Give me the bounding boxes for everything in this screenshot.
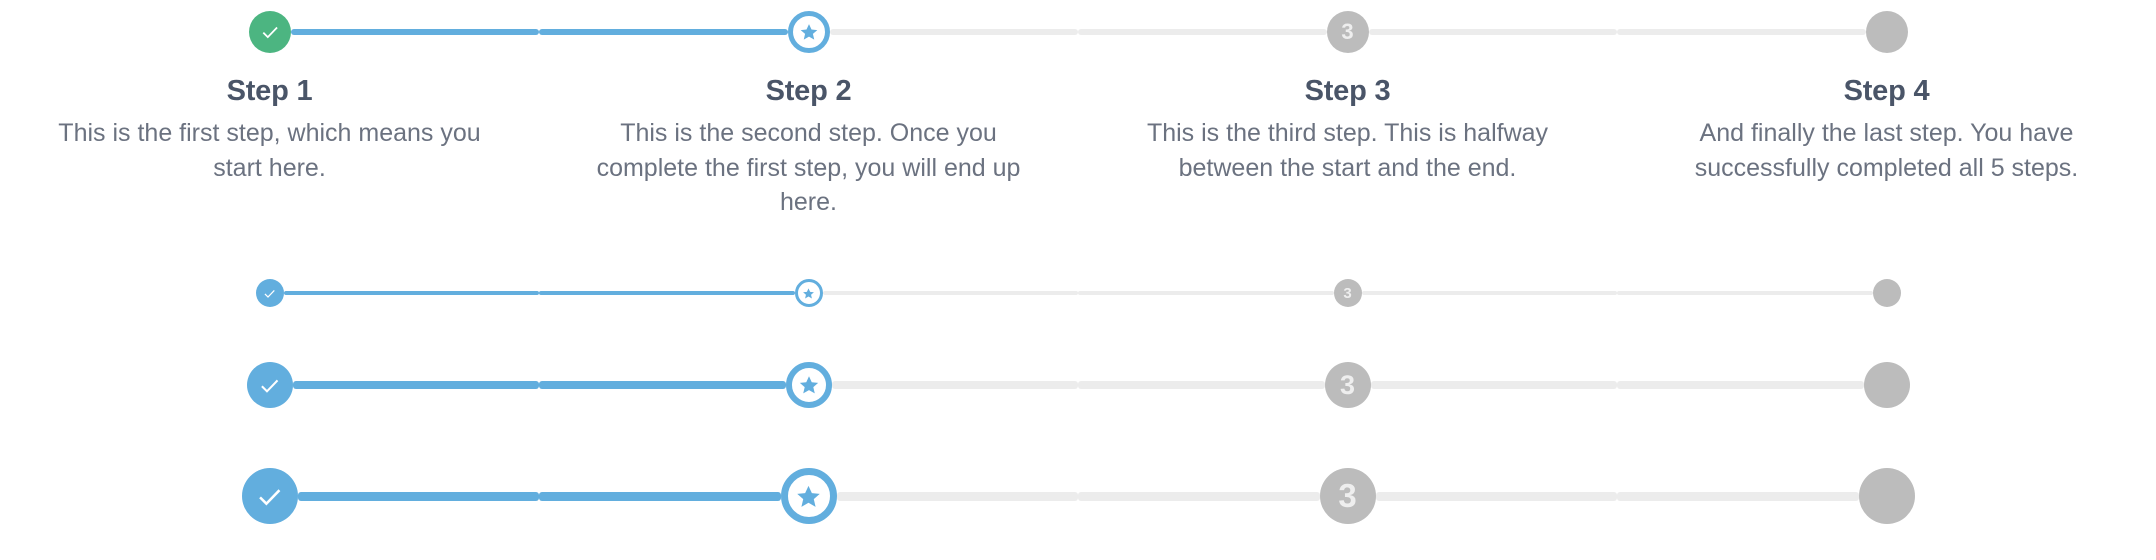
star-icon [795, 483, 822, 510]
step-marker-4-dot[interactable] [1859, 468, 1915, 524]
step-track-4 [1617, 11, 2156, 53]
step-description-1: This is the first step, which means you … [12, 116, 527, 185]
check-icon [254, 481, 285, 512]
connector-line-left-4 [1617, 381, 1864, 389]
star-icon [798, 374, 820, 396]
step-description-3: This is the third step. This is halfway … [1090, 116, 1605, 185]
star-icon [799, 22, 819, 42]
step-item-2[interactable] [539, 362, 1078, 408]
stepper-medium: 3 [0, 362, 2156, 408]
step-track-1 [0, 279, 539, 307]
step-marker-1-check[interactable] [256, 279, 284, 307]
step-marker-3-number[interactable]: 3 [1334, 279, 1362, 307]
step-description-2: This is the second step. Once you comple… [551, 116, 1066, 220]
connector-line-left-4 [1617, 492, 1859, 501]
step-track-3: 3 [1078, 11, 1617, 53]
step-track-3: 3 [1078, 362, 1617, 408]
step-title-4: Step 4 [1629, 75, 2144, 108]
step-track-1 [0, 468, 539, 524]
step-item-2[interactable] [539, 279, 1078, 307]
connector-line-right-1 [291, 29, 540, 35]
step-item-4[interactable]: Step 4 And finally the last step. You ha… [1617, 11, 2156, 185]
connector-line-left-2 [539, 291, 795, 295]
connector-line-left-4 [1617, 291, 1873, 295]
step-marker-2-star[interactable] [786, 362, 832, 408]
step-track-3: 3 [1078, 468, 1617, 524]
connector-line-right-3 [1376, 492, 1618, 501]
connector-line-right-2 [823, 291, 1079, 295]
step-item-1[interactable] [0, 362, 539, 408]
step-marker-1-check[interactable] [249, 11, 291, 53]
step-labels-4: Step 4 And finally the last step. You ha… [1617, 53, 2156, 185]
step-marker-4-dot[interactable] [1866, 11, 1908, 53]
step-marker-2-star[interactable] [781, 468, 837, 524]
step-track-4 [1617, 468, 2156, 524]
step-track-2 [539, 468, 1078, 524]
step-marker-2-star[interactable] [788, 11, 830, 53]
step-title-2: Step 2 [551, 75, 1066, 108]
step-labels-2: Step 2 This is the second step. Once you… [539, 53, 1078, 220]
connector-line-right-3 [1362, 291, 1618, 295]
connector-line-right-1 [298, 492, 540, 501]
step-item-3[interactable]: 3 [1078, 279, 1617, 307]
step-track-1 [0, 362, 539, 408]
step-marker-1-check[interactable] [242, 468, 298, 524]
step-labels-3: Step 3 This is the third step. This is h… [1078, 53, 1617, 185]
step-title-3: Step 3 [1090, 75, 1605, 108]
connector-line-left-3 [1078, 381, 1325, 389]
step-title-1: Step 1 [12, 75, 527, 108]
stepper-showcase-page: Step 1 This is the first step, which mea… [0, 0, 2156, 560]
step-labels-1: Step 1 This is the first step, which mea… [0, 53, 539, 185]
step-track-2 [539, 279, 1078, 307]
star-icon [802, 287, 815, 300]
connector-line-left-1 [0, 381, 247, 389]
step-item-1[interactable]: Step 1 This is the first step, which mea… [0, 11, 539, 185]
connector-line-left-2 [539, 381, 786, 389]
connector-line-right-4 [1910, 381, 2156, 389]
step-item-2[interactable] [539, 468, 1078, 524]
step-marker-3-number[interactable]: 3 [1327, 11, 1369, 53]
step-item-3[interactable]: 3 [1078, 362, 1617, 408]
stepper-xlarge: 3 [0, 468, 2156, 524]
step-item-4[interactable] [1617, 279, 2156, 307]
step-marker-3-number[interactable]: 3 [1320, 468, 1376, 524]
step-item-1[interactable] [0, 468, 539, 524]
stepper-large-with-labels: Step 1 This is the first step, which mea… [0, 11, 2156, 220]
step-item-3[interactable]: 3 Step 3 This is the third step. This is… [1078, 11, 1617, 185]
step-track-1 [0, 11, 539, 53]
connector-line-left-2 [539, 492, 781, 501]
connector-line-left-3 [1078, 29, 1327, 35]
step-track-2 [539, 11, 1078, 53]
step-track-4 [1617, 362, 2156, 408]
connector-line-right-1 [293, 381, 540, 389]
step-marker-4-dot[interactable] [1864, 362, 1910, 408]
step-item-4[interactable] [1617, 468, 2156, 524]
connector-line-left-3 [1078, 492, 1320, 501]
connector-line-right-4 [1901, 291, 2156, 295]
connector-line-left-1 [0, 291, 256, 295]
connector-line-left-1 [0, 29, 249, 35]
step-marker-3-number[interactable]: 3 [1325, 362, 1371, 408]
step-item-1[interactable] [0, 279, 539, 307]
connector-line-right-2 [837, 492, 1079, 501]
step-item-3[interactable]: 3 [1078, 468, 1617, 524]
connector-line-left-2 [539, 29, 788, 35]
step-item-4[interactable] [1617, 362, 2156, 408]
step-item-2[interactable]: Step 2 This is the second step. Once you… [539, 11, 1078, 220]
step-marker-1-check[interactable] [247, 362, 293, 408]
connector-line-left-4 [1617, 29, 1866, 35]
step-track-2 [539, 362, 1078, 408]
connector-line-right-1 [284, 291, 540, 295]
connector-line-left-3 [1078, 291, 1334, 295]
step-marker-4-dot[interactable] [1873, 279, 1901, 307]
connector-line-right-3 [1371, 381, 1618, 389]
connector-line-right-4 [1908, 29, 2156, 35]
connector-line-left-1 [0, 492, 242, 501]
step-description-4: And finally the last step. You have succ… [1629, 116, 2144, 185]
stepper-small: 3 [0, 279, 2156, 307]
step-track-4 [1617, 279, 2156, 307]
connector-line-right-3 [1369, 29, 1618, 35]
check-icon [262, 286, 277, 301]
step-marker-2-star[interactable] [795, 279, 823, 307]
connector-line-right-2 [830, 29, 1079, 35]
step-track-3: 3 [1078, 279, 1617, 307]
check-icon [259, 21, 281, 43]
connector-line-right-4 [1915, 492, 2156, 501]
connector-line-right-2 [832, 381, 1079, 389]
check-icon [257, 373, 282, 398]
